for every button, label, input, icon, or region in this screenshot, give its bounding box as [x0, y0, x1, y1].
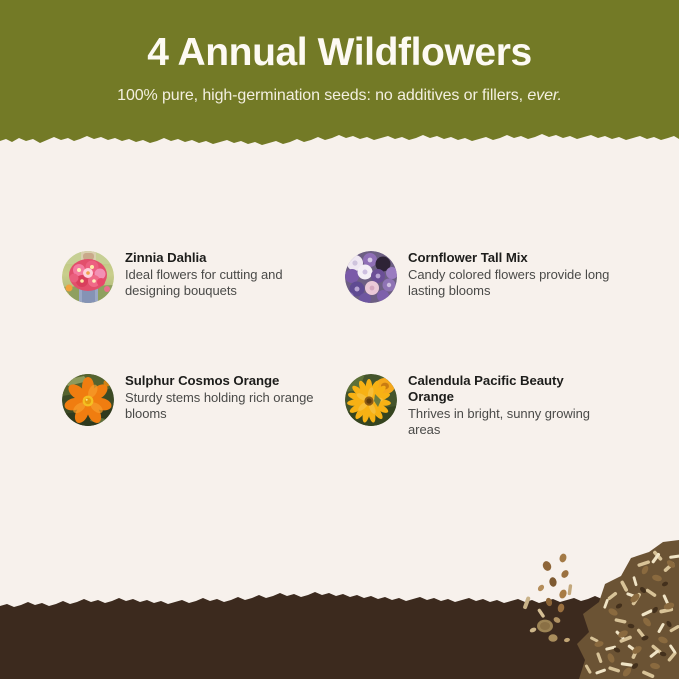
- header-band: 4 Annual Wildflowers 100% pure, high-ger…: [0, 0, 679, 152]
- list-item[interactable]: Cornflower Tall Mix Candy colored flower…: [345, 250, 615, 303]
- list-item-title: Sulphur Cosmos Orange: [125, 373, 330, 389]
- subtitle-text: 100% pure, high-germination seeds: no ad…: [117, 87, 527, 104]
- sulphur-cosmos-orange-photo-icon: [62, 374, 114, 426]
- list-item-description: Candy colored flowers provide long lasti…: [408, 267, 615, 299]
- subtitle-emphasis: ever.: [527, 87, 561, 104]
- list-item-description: Thrives in bright, sunny growing areas: [408, 406, 615, 438]
- list-item-text: Cornflower Tall Mix Candy colored flower…: [408, 250, 615, 299]
- scattered-seeds: [523, 553, 573, 643]
- list-item-description: Ideal flowers for cutting and designing …: [125, 267, 332, 299]
- soil-band: [0, 588, 679, 679]
- list-item-title: Calendula Pacific Beauty Orange: [408, 373, 613, 405]
- list-item-title: Cornflower Tall Mix: [408, 250, 613, 266]
- list-item-text: Calendula Pacific Beauty Orange Thrives …: [408, 373, 615, 438]
- calendula-pacific-beauty-orange-photo-icon: [345, 374, 397, 426]
- torn-paper-edge-top: [0, 127, 679, 152]
- list-item-title: Zinnia Dahlia: [125, 250, 330, 266]
- list-item[interactable]: Zinnia Dahlia Ideal flowers for cutting …: [62, 250, 332, 303]
- page-title: 4 Annual Wildflowers: [0, 33, 679, 74]
- list-item[interactable]: Calendula Pacific Beauty Orange Thrives …: [345, 373, 615, 438]
- wildflower-seed-pile-icon: [519, 540, 679, 679]
- cornflower-tall-mix-photo-icon: [345, 251, 397, 303]
- list-item-text: Sulphur Cosmos Orange Sturdy stems holdi…: [125, 373, 332, 422]
- page-subtitle: 100% pure, high-germination seeds: no ad…: [0, 87, 679, 105]
- list-item[interactable]: Sulphur Cosmos Orange Sturdy stems holdi…: [62, 373, 332, 426]
- list-item-text: Zinnia Dahlia Ideal flowers for cutting …: [125, 250, 332, 299]
- list-item-description: Sturdy stems holding rich orange blooms: [125, 390, 332, 422]
- zinnia-dahlia-photo-icon: [62, 251, 114, 303]
- product-infographic: 4 Annual Wildflowers 100% pure, high-ger…: [0, 0, 679, 679]
- feature-list: Zinnia Dahlia Ideal flowers for cutting …: [0, 232, 679, 472]
